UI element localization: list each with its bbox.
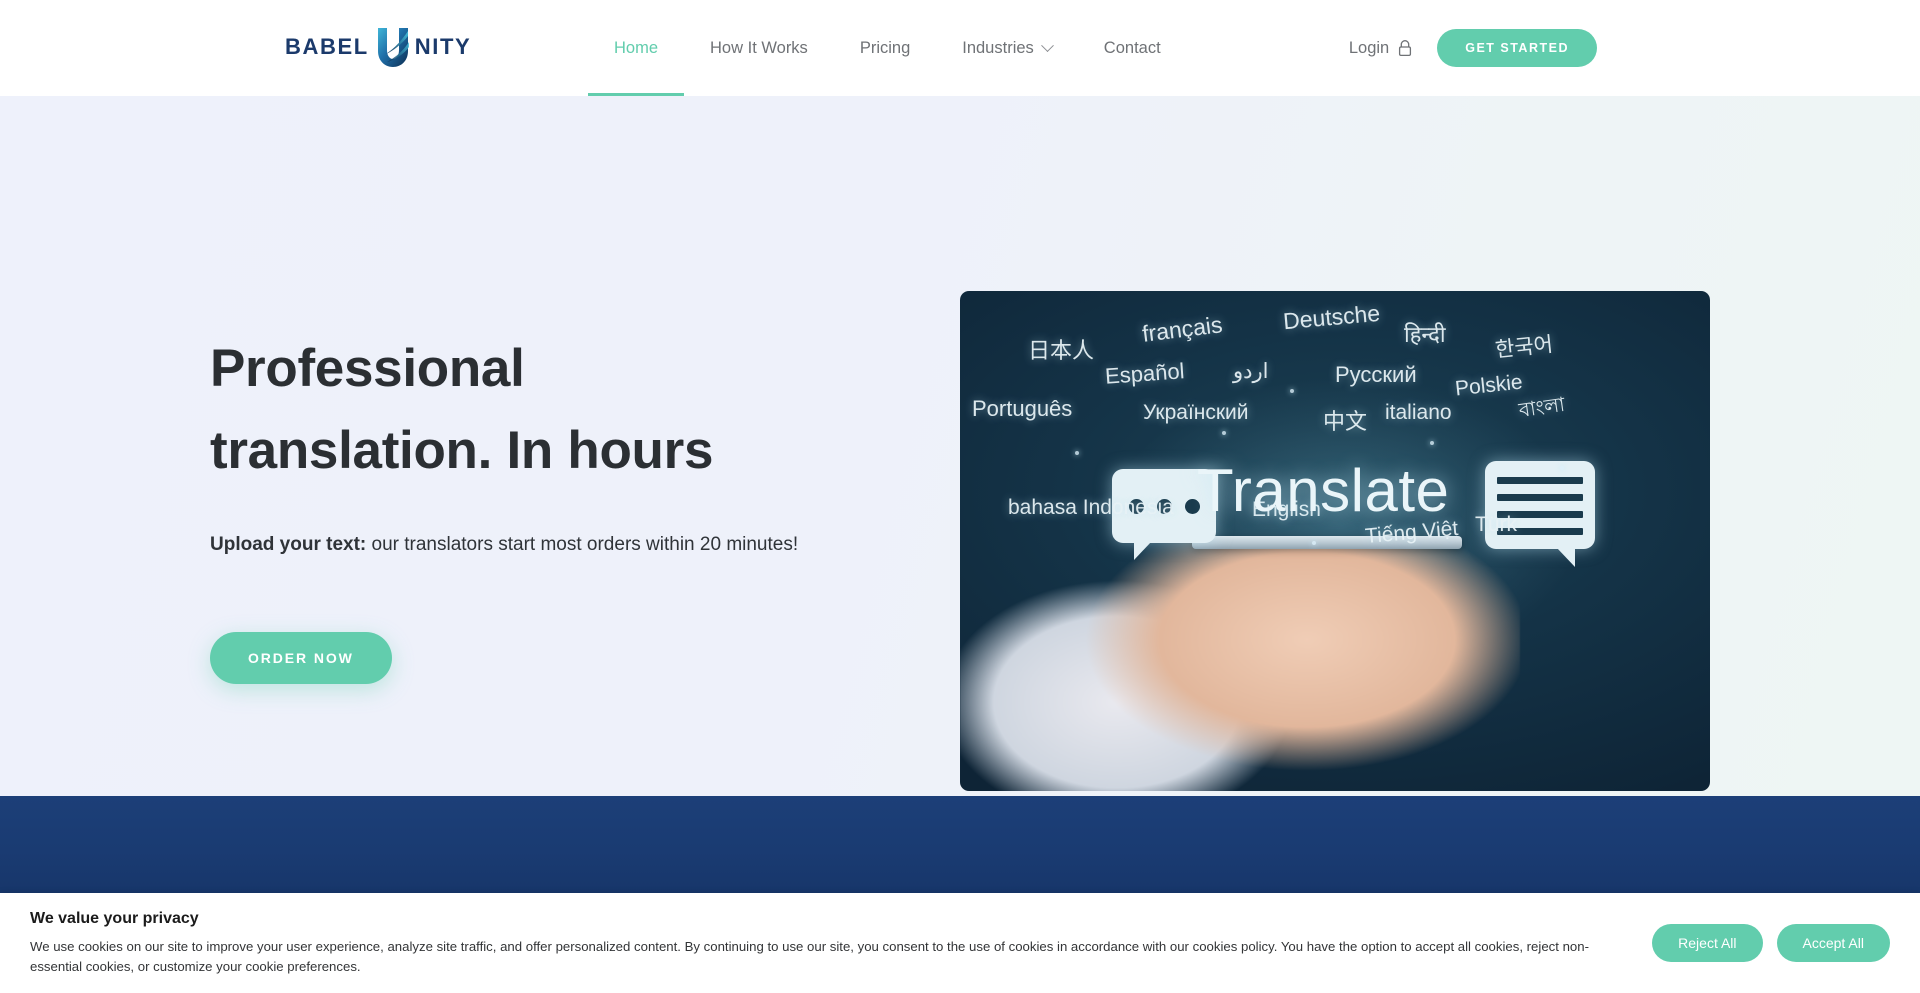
site-header: BABEL NITY xyxy=(0,0,1920,96)
cookie-banner-body: We use cookies on our site to improve yo… xyxy=(30,937,1620,975)
nav-label-home: Home xyxy=(614,39,658,58)
nav-label-pricing: Pricing xyxy=(860,39,910,58)
order-now-button[interactable]: ORDER NOW xyxy=(210,632,392,684)
hero-subtitle-rest: our translators start most orders within… xyxy=(366,534,798,555)
language-word: Türk xyxy=(1475,513,1517,537)
chevron-down-icon xyxy=(1041,39,1054,52)
hero-copy: Professional translation. In hours Uploa… xyxy=(210,328,910,684)
nav-item-pricing[interactable]: Pricing xyxy=(834,0,936,96)
hero-subtitle-bold: Upload your text: xyxy=(210,534,366,555)
language-word: Português xyxy=(972,396,1072,422)
logo-text-unity: NITY xyxy=(415,34,472,60)
language-word: français xyxy=(1141,311,1224,348)
hand-holding-phone-illustration xyxy=(960,541,1520,791)
language-word: Deutsche xyxy=(1282,300,1381,335)
nav-item-how-it-works[interactable]: How It Works xyxy=(684,0,834,96)
nav-label-industries: Industries xyxy=(962,39,1034,58)
language-word: 中文 xyxy=(1323,404,1367,436)
hero-title-line2: translation. In hours xyxy=(210,421,713,480)
language-word: हिन्दी xyxy=(1404,319,1446,349)
cookie-text-block: We value your privacy We use cookies on … xyxy=(0,910,1620,975)
reject-all-button[interactable]: Reject All xyxy=(1652,924,1762,962)
cookie-consent-banner: We value your privacy We use cookies on … xyxy=(0,893,1920,993)
hero-translate-image: 日本人 français Deutsche हिन्दी 한국어 Español… xyxy=(960,291,1710,791)
language-word: 한국어 xyxy=(1494,328,1555,364)
hero-subtitle: Upload your text: our translators start … xyxy=(210,530,910,560)
nav-label-contact: Contact xyxy=(1104,39,1161,58)
nav-item-contact[interactable]: Contact xyxy=(1078,0,1187,96)
logo-text-babel: BABEL xyxy=(285,34,369,60)
page-title: Professional translation. In hours xyxy=(210,328,910,492)
language-word: ﺍﺭﺩﻭ xyxy=(1233,359,1268,384)
translate-headline-word: Translate xyxy=(1197,456,1449,525)
language-word: বাংলা xyxy=(1517,390,1567,429)
header-actions: Login GET STARTED xyxy=(1349,0,1597,96)
language-word: Українский xyxy=(1143,401,1249,425)
language-word: 日本人 xyxy=(1028,333,1094,365)
babel-unity-u-mark-icon xyxy=(372,25,414,71)
site-logo[interactable]: BABEL NITY xyxy=(285,22,471,72)
hero-title-line1: Professional xyxy=(210,339,525,398)
get-started-button[interactable]: GET STARTED xyxy=(1437,29,1597,67)
hero-section: Professional translation. In hours Uploa… xyxy=(0,96,1920,796)
lock-icon xyxy=(1397,39,1413,57)
language-word: Polskie xyxy=(1454,371,1524,402)
language-word: Русский xyxy=(1335,362,1417,388)
primary-navigation: Home How It Works Pricing Industries Con… xyxy=(588,0,1187,96)
nav-item-home[interactable]: Home xyxy=(588,0,684,96)
nav-label-how-it-works: How It Works xyxy=(710,39,808,58)
language-word: bahasa Indonesia xyxy=(1008,496,1174,520)
login-label: Login xyxy=(1349,39,1389,58)
language-word: italiano xyxy=(1385,401,1452,425)
accept-all-button[interactable]: Accept All xyxy=(1777,924,1890,962)
nav-item-industries[interactable]: Industries xyxy=(936,0,1078,96)
language-word: Español xyxy=(1104,358,1185,389)
login-link[interactable]: Login xyxy=(1349,39,1413,58)
cookie-banner-actions: Reject All Accept All xyxy=(1652,924,1890,962)
cookie-banner-title: We value your privacy xyxy=(30,910,1620,928)
dark-section-band xyxy=(0,796,1920,896)
